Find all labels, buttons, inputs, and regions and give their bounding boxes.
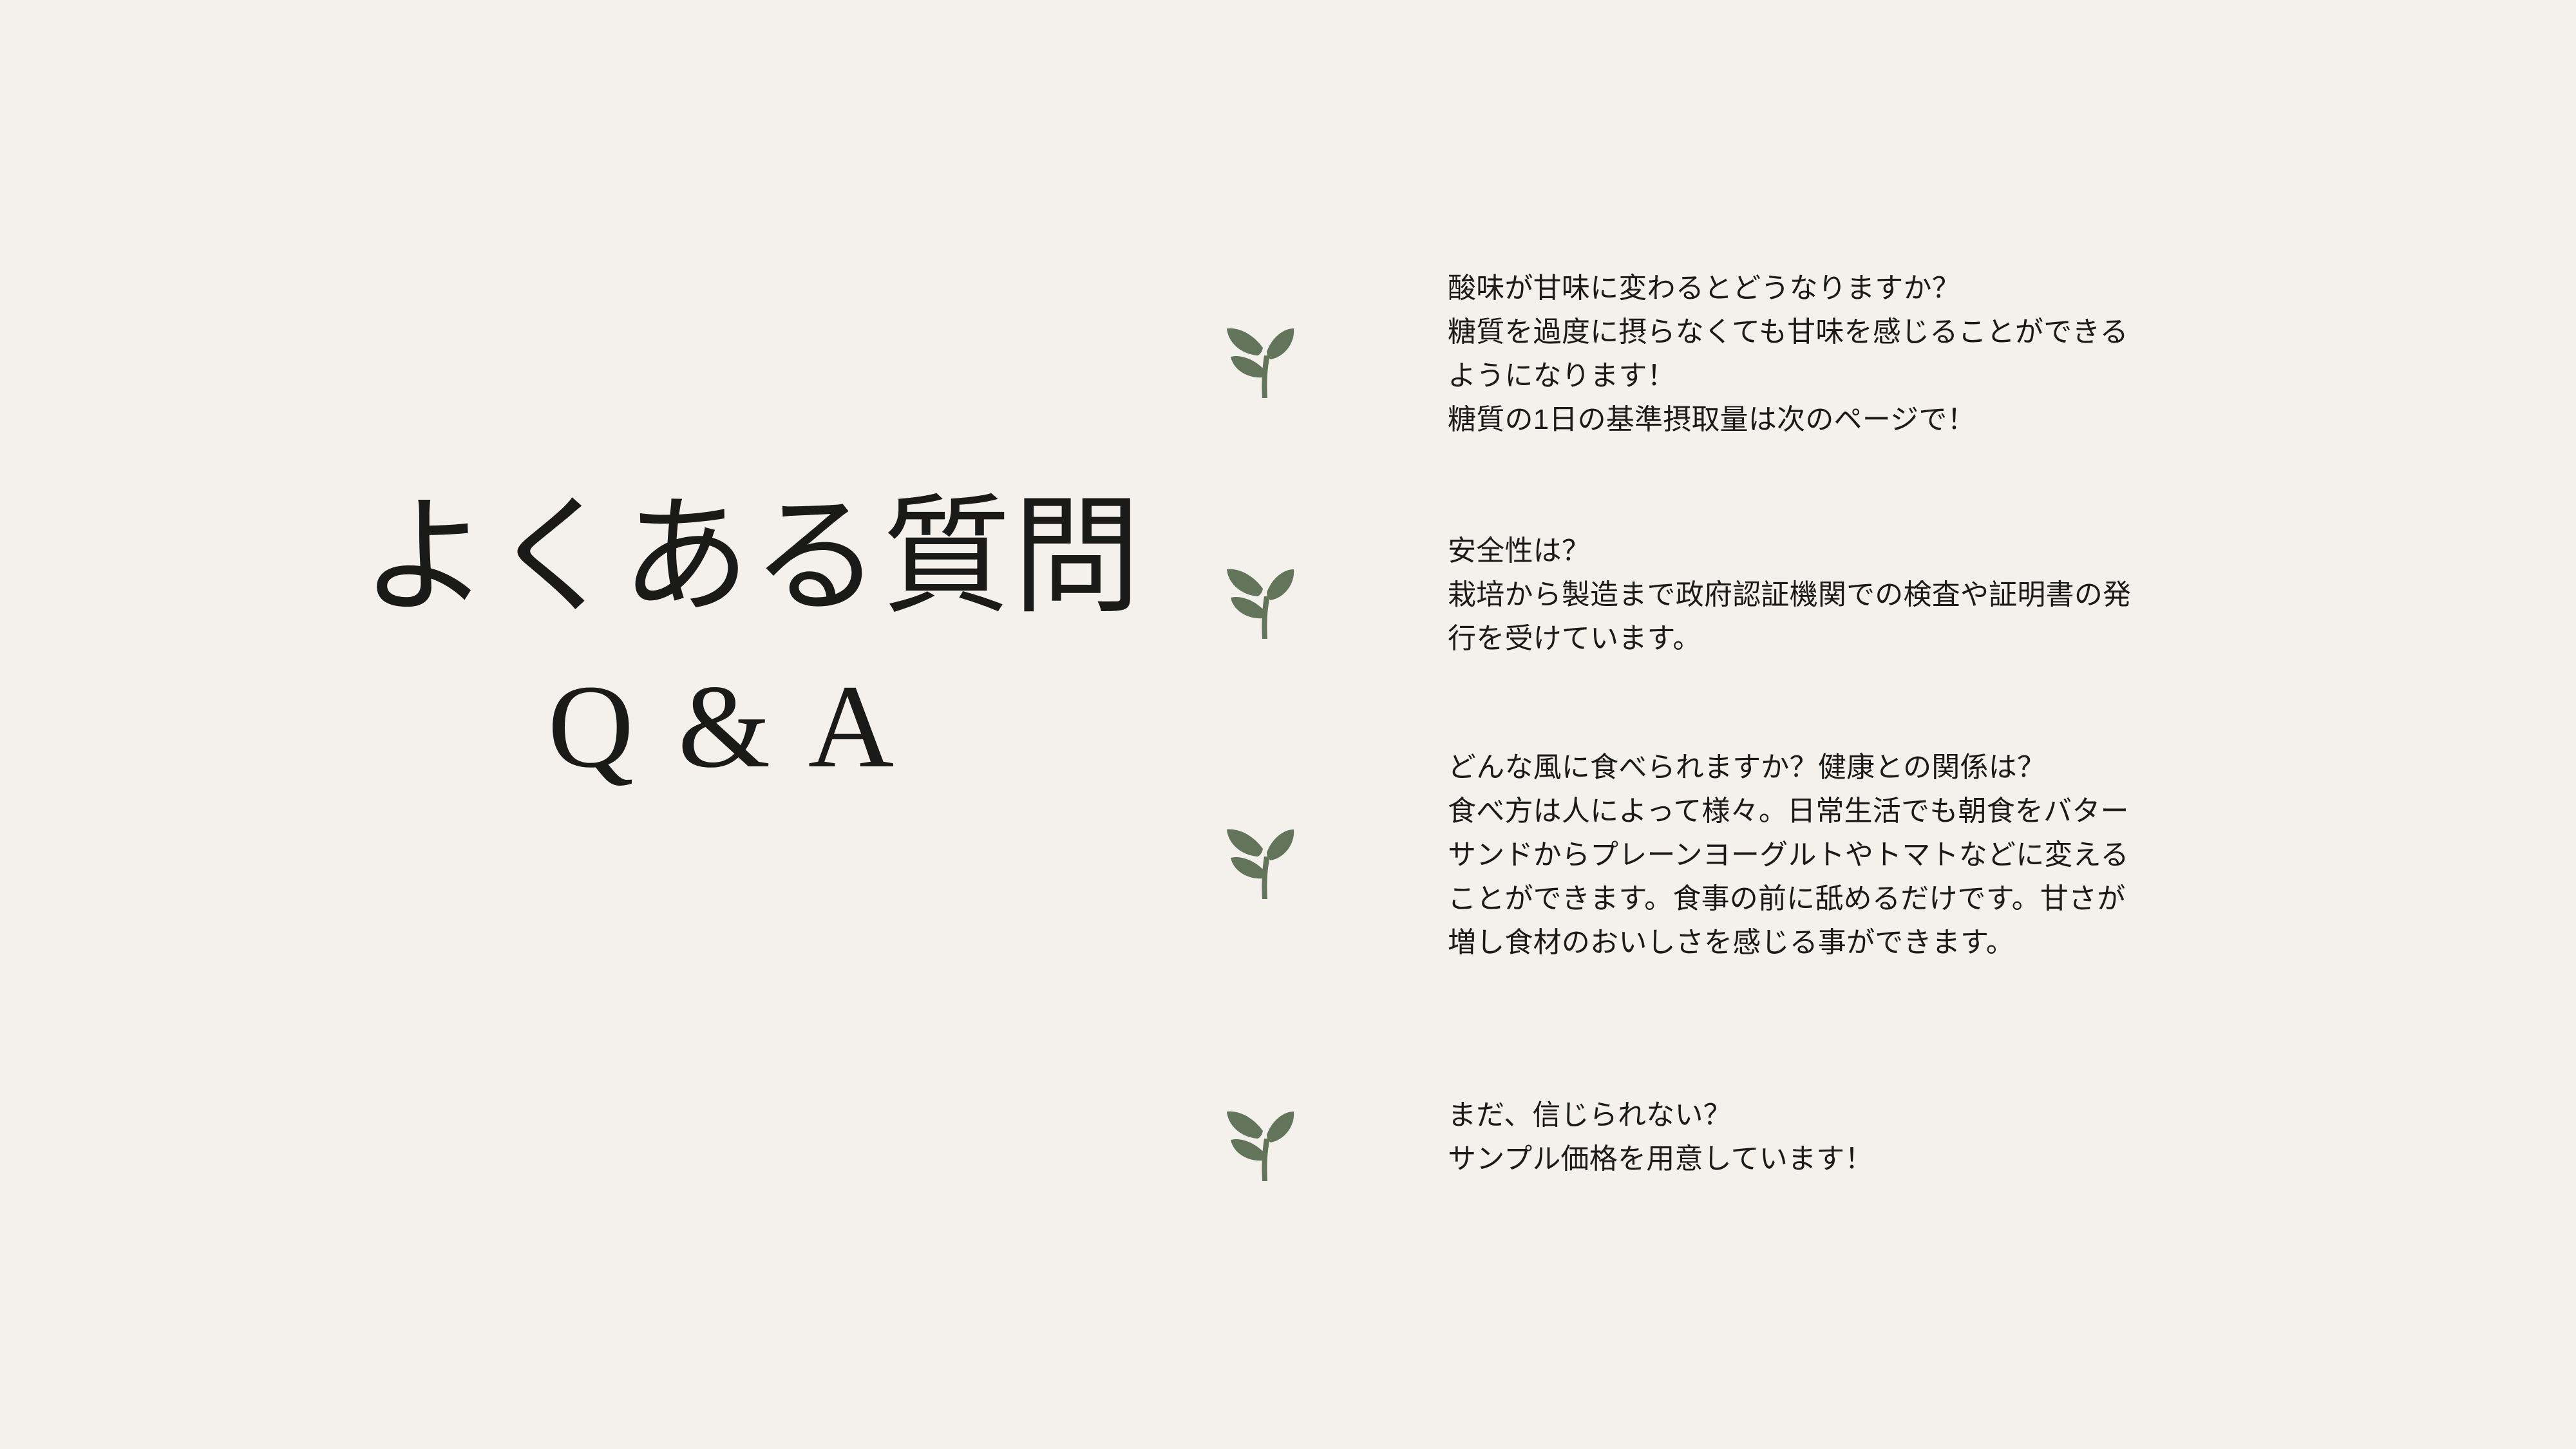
faq-answer-line: サンドからプレーンヨーグルトやトマトなどに変える	[1448, 833, 2370, 877]
sprout-icon	[1211, 1092, 1307, 1182]
faq-item: まだ、信じられない？ サンプル価格を用意しています！	[1211, 1084, 2370, 1190]
faq-item: 酸味が甘味に変わるとどうなりますか？ 糖質を過度に摂らなくても甘味を感じることが…	[1211, 258, 2370, 451]
faq-list: 酸味が甘味に変わるとどうなりますか？ 糖質を過度に摂らなくても甘味を感じることが…	[1211, 258, 2370, 1190]
faq-slide: よくある質問 Q & A 酸味が甘味に変わるとどうなりますか？ 糖質を過度に摂ら…	[0, 0, 2576, 1449]
page-title: よくある質問	[361, 489, 1088, 625]
sprout-icon	[1211, 550, 1307, 640]
faq-answer-line: ようになります！	[1448, 354, 2370, 398]
faq-text: 安全性は？ 栽培から製造まで政府認証機関での検査や証明書の発 行を受けています。	[1307, 529, 2370, 661]
faq-answer-line: 糖質の1日の基準摂取量は次のページで！	[1448, 398, 2370, 442]
faq-text: どんな風に食べられますか？健康との関係は？ 食べ方は人によって様々。日常生活でも…	[1307, 746, 2370, 965]
faq-answer-line: 食べ方は人によって様々。日常生活でも朝食をバター	[1448, 790, 2370, 833]
faq-answer-line: サンプル価格を用意しています！	[1448, 1137, 2370, 1181]
faq-item: どんな風に食べられますか？健康との関係は？ 食べ方は人によって様々。日常生活でも…	[1211, 737, 2370, 974]
faq-question: どんな風に食べられますか？健康との関係は？	[1448, 746, 2370, 790]
sprout-icon	[1211, 810, 1307, 900]
faq-question: 酸味が甘味に変わるとどうなりますか？	[1448, 267, 2370, 310]
page-subtitle: Q & A	[361, 667, 1088, 786]
faq-text: 酸味が甘味に変わるとどうなりますか？ 糖質を過度に摂らなくても甘味を感じることが…	[1307, 267, 2370, 442]
faq-item: 安全性は？ 栽培から製造まで政府認証機関での検査や証明書の発 行を受けています。	[1211, 520, 2370, 670]
faq-answer-line: 糖質を過度に摂らなくても甘味を感じることができる	[1448, 310, 2370, 354]
faq-question: 安全性は？	[1448, 529, 2370, 573]
faq-answer-line: 栽培から製造まで政府認証機関での検査や証明書の発	[1448, 573, 2370, 617]
faq-answer-line: ことができます。食事の前に舐めるだけです。甘さが	[1448, 877, 2370, 921]
faq-answer-line: 増し食材のおいしさを感じる事ができます。	[1448, 921, 2370, 965]
faq-text: まだ、信じられない？ サンプル価格を用意しています！	[1307, 1094, 2370, 1181]
sprout-icon	[1211, 309, 1307, 399]
title-block: よくある質問 Q & A	[361, 489, 1088, 786]
faq-question: まだ、信じられない？	[1448, 1094, 2370, 1137]
faq-answer-line: 行を受けています。	[1448, 617, 2370, 661]
